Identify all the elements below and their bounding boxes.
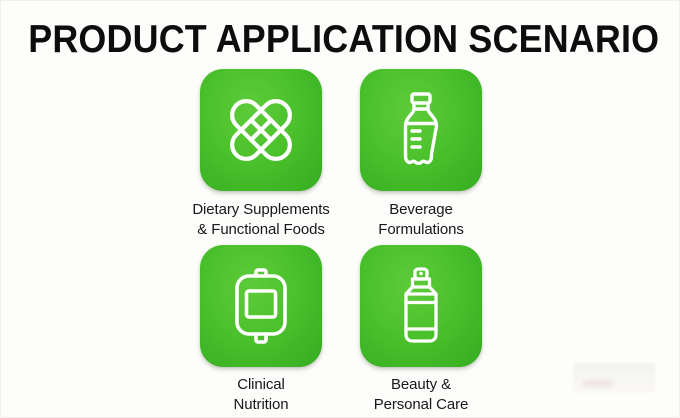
infographic-page: PRODUCT APPLICATION SCENARIO	[0, 0, 680, 418]
spray-bottle-icon	[378, 263, 464, 349]
card-beauty-personal-care[interactable]: Beauty & Personal Care	[341, 245, 501, 414]
card-label-clinical-nutrition: Clinical Nutrition	[234, 375, 289, 414]
card-dietary-supplements[interactable]: Dietary Supplements & Functional Foods	[181, 69, 341, 239]
application-scenario-grid: Dietary Supplements & Functional Foods	[181, 69, 501, 414]
beverage-bottle-icon	[378, 87, 464, 173]
tile-dietary-supplements[interactable]	[200, 69, 322, 191]
tile-beverage-formulations[interactable]	[360, 69, 482, 191]
tile-clinical-nutrition[interactable]	[200, 245, 322, 367]
card-beverage-formulations[interactable]: Beverage Formulations	[341, 69, 501, 239]
card-label-beauty-personal-care: Beauty & Personal Care	[374, 375, 469, 414]
watermark	[573, 363, 655, 393]
iv-bag-icon	[218, 263, 304, 349]
card-label-dietary-supplements: Dietary Supplements & Functional Foods	[192, 200, 329, 239]
card-label-beverage-formulations: Beverage Formulations	[378, 200, 464, 239]
pill-capsules-icon	[218, 87, 304, 173]
card-clinical-nutrition[interactable]: Clinical Nutrition	[181, 245, 341, 414]
page-title: PRODUCT APPLICATION SCENARIO	[28, 19, 654, 61]
tile-beauty-personal-care[interactable]	[360, 245, 482, 367]
